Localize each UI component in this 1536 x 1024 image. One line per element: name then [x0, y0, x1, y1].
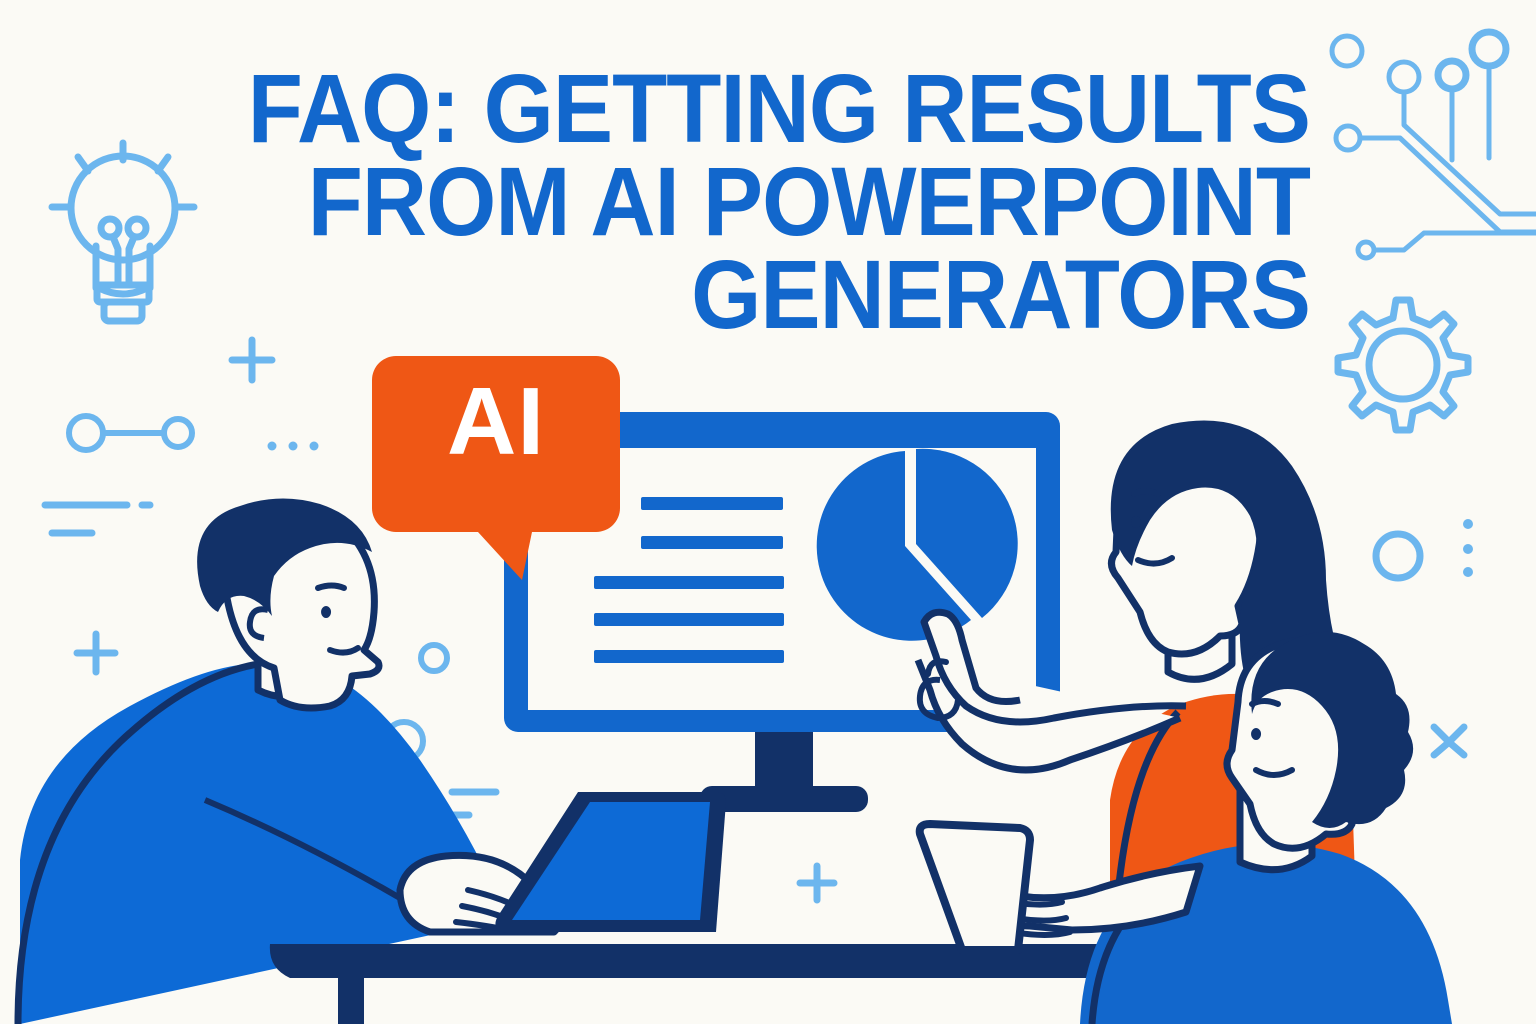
person-typing-brow — [318, 586, 344, 589]
slide-line-5 — [594, 650, 784, 663]
person-typing-eye — [321, 606, 331, 618]
slide-line-2 — [641, 536, 783, 549]
banner-canvas: FAQ: GETTING RESULTS FROM AI POWERPOINT … — [0, 0, 1536, 1024]
pie-chart — [817, 449, 1018, 641]
slide-line-1 — [641, 497, 783, 510]
person-holding-tablet-brow — [1252, 701, 1278, 704]
desk-leg — [338, 976, 364, 1024]
person-pointing-eye — [1131, 516, 1141, 528]
person-holding-tablet-eye — [1251, 728, 1261, 740]
slide-line-3 — [594, 576, 784, 589]
slide-line-4 — [594, 613, 784, 626]
dots-row — [268, 442, 319, 451]
person-pointing-brow — [1134, 491, 1158, 494]
illustration-svg — [0, 0, 1536, 1024]
